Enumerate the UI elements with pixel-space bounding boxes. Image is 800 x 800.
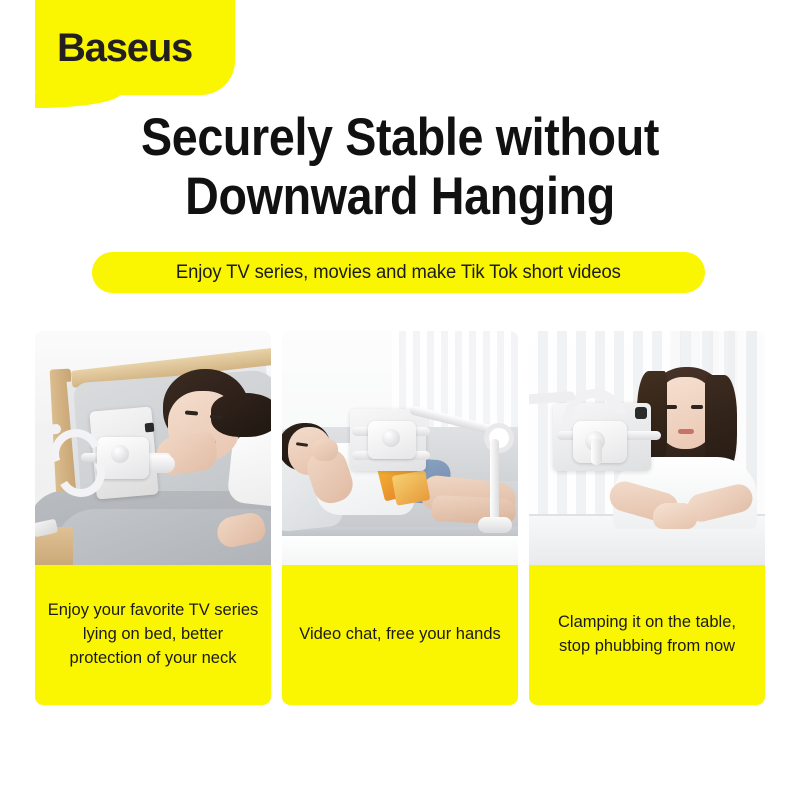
feature-card: Clamping it on the table, stop phubbing …	[529, 331, 765, 705]
tablet-camera	[145, 423, 155, 433]
feature-card-caption: Video chat, free your hands	[282, 565, 518, 705]
subtitle-text: Enjoy TV series, movies and make Tik Tok…	[176, 262, 621, 284]
person-mouth	[678, 429, 694, 434]
person-hands	[653, 503, 697, 529]
feature-card-caption: Clamping it on the table, stop phubbing …	[529, 565, 765, 705]
person-eye-left	[665, 405, 677, 409]
product-photo-bed-scene	[35, 331, 271, 565]
magazine-page	[392, 470, 431, 505]
feature-card-caption: Enjoy your favorite TV series lying on b…	[35, 565, 271, 705]
headline-line-1: Securely Stable without	[48, 108, 752, 167]
person-hand	[312, 439, 338, 461]
product-photo-desk-scene	[529, 331, 765, 565]
headline-line-2: Downward Hanging	[48, 167, 752, 226]
feature-card: Video chat, free your hands	[282, 331, 518, 705]
page-title: Securely Stable without Downward Hanging	[48, 108, 752, 227]
feature-card: Enjoy your favorite TV series lying on b…	[35, 331, 271, 705]
product-photo-sofa-scene	[282, 331, 518, 565]
holder-adjust-knob	[111, 445, 129, 463]
subtitle-banner: Enjoy TV series, movies and make Tik Tok…	[92, 252, 705, 293]
feature-card-row: Enjoy your favorite TV series lying on b…	[35, 331, 765, 705]
person-eye-right	[691, 405, 703, 409]
brand-banner: Baseus	[35, 0, 235, 95]
tablet-camera	[635, 407, 647, 419]
holder-floor-pole	[490, 439, 499, 521]
holder-pivot-joint	[484, 423, 514, 453]
brand-logo-wordmark: Baseus	[57, 26, 192, 71]
floor	[282, 536, 518, 565]
holder-adjust-knob	[382, 429, 400, 447]
holder-base-clamp	[478, 517, 512, 533]
